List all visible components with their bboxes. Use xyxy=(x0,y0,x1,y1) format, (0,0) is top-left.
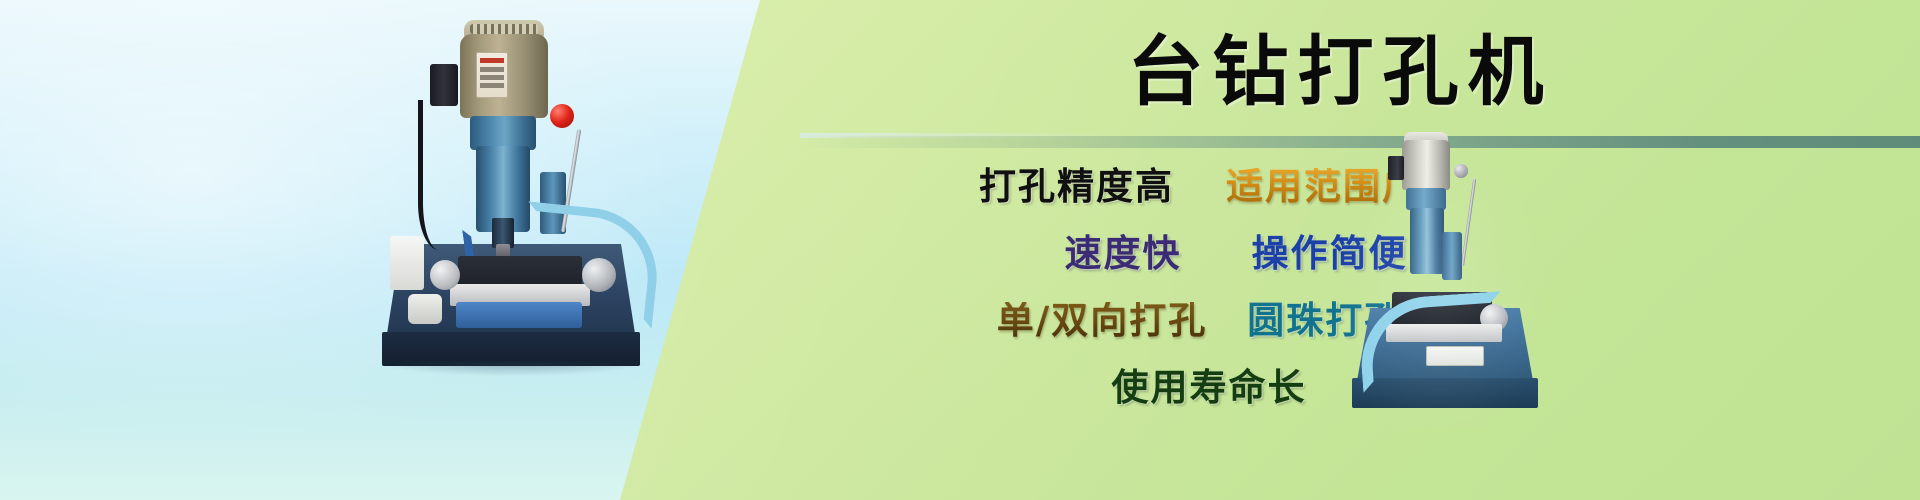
product-sticker xyxy=(1426,346,1484,366)
drill-press-image-right xyxy=(1330,128,1550,428)
handwheel-right xyxy=(582,258,616,292)
feature-row: 使用寿命长 xyxy=(700,369,1700,436)
feature-row: 单/双向打孔 圆珠打孔 xyxy=(700,302,1700,369)
feature-item: 打孔精度高 xyxy=(979,168,1174,205)
feature-list: 打孔精度高 适用范围广 速度快 操作简便 单/双向打孔 圆珠打孔 使用寿命长 xyxy=(700,168,1700,436)
feature-row: 打孔精度高 适用范围广 xyxy=(700,168,1700,235)
title-block: 台钻打孔机 xyxy=(760,34,1920,110)
coolant-hose xyxy=(1357,291,1507,393)
handwheel-left xyxy=(430,260,460,290)
feature-item: 使用寿命长 xyxy=(1112,369,1307,406)
drill-press-image-left xyxy=(372,12,652,372)
motor-body xyxy=(1402,140,1450,190)
feed-lever-knob xyxy=(550,104,574,128)
motor-label xyxy=(476,52,508,98)
junction-box xyxy=(1388,156,1404,180)
pedal-block xyxy=(408,294,442,324)
feature-item: 速度快 xyxy=(1065,235,1182,272)
machine-base-front xyxy=(382,332,640,366)
power-cable xyxy=(418,100,439,250)
machine-shadow xyxy=(378,362,644,376)
motor-vents xyxy=(470,24,538,34)
feature-item: 单/双向打孔 xyxy=(997,302,1208,339)
vise-base xyxy=(456,302,582,328)
feed-lever-knob xyxy=(1454,164,1468,178)
feed-lever-stem xyxy=(1461,179,1476,267)
product-banner: 台钻打孔机 打孔精度高 适用范围广 速度快 操作简便 单/双向打孔 圆珠打孔 使… xyxy=(0,0,1920,500)
drill-column xyxy=(1410,208,1444,274)
control-box xyxy=(390,236,424,290)
drill-head-assembly xyxy=(1442,232,1462,280)
drill-neck xyxy=(1406,188,1446,210)
feature-row: 速度快 操作简便 xyxy=(700,235,1700,302)
drill-neck xyxy=(470,116,536,150)
junction-box xyxy=(430,64,458,106)
banner-title: 台钻打孔机 xyxy=(760,34,1920,110)
